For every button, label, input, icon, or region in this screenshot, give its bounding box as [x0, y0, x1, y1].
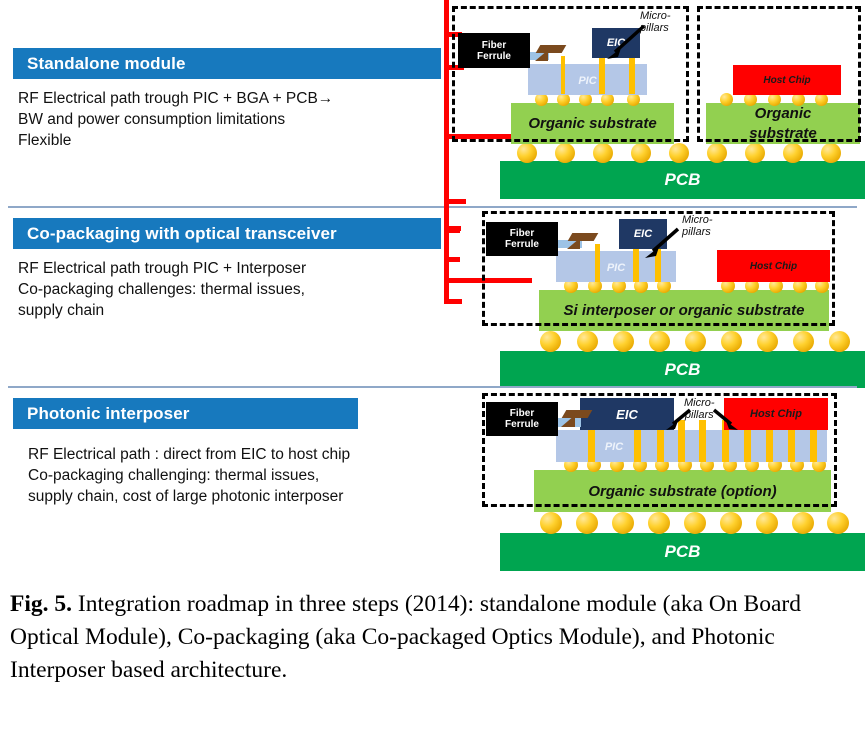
figure-caption-label: Fig. 5. — [10, 591, 72, 617]
module-boundary-right — [697, 6, 861, 142]
rf-path-segment — [444, 262, 449, 278]
section-title-photonic-interposer: Photonic interposer — [27, 404, 189, 424]
solder-ball — [745, 143, 765, 163]
solder-ball — [555, 143, 575, 163]
pcb-label: PCB — [500, 533, 865, 571]
section-header-photonic-interposer: Photonic interposer — [13, 398, 358, 429]
rf-path-segment — [444, 283, 449, 299]
diagram-standalone: PCB Organic substrate Organic substrate — [444, 0, 865, 200]
solder-ball — [540, 331, 561, 352]
solder-ball — [631, 143, 651, 163]
rf-path-segment — [444, 139, 449, 199]
solder-ball — [613, 331, 634, 352]
solder-ball — [793, 331, 814, 352]
solder-ball — [517, 143, 537, 163]
solder-ball — [649, 331, 670, 352]
solder-ball — [684, 512, 706, 534]
solder-ball — [827, 512, 849, 534]
rf-path-segment — [444, 70, 449, 134]
section-description-copackaging: RF Electrical path trough PIC + Interpos… — [18, 258, 438, 321]
solder-ball — [756, 512, 778, 534]
rf-path-segment — [444, 299, 462, 304]
section-title-standalone: Standalone module — [27, 54, 186, 74]
solder-ball — [577, 331, 598, 352]
diagram-photonic-interposer: PCB Organic substrate (option) PIC — [444, 388, 865, 573]
pcb-label: PCB — [500, 161, 865, 199]
solder-ball — [783, 143, 803, 163]
solder-ball — [648, 512, 670, 534]
figure-container: Standalone module RF Electrical path tro… — [0, 0, 865, 740]
solder-ball — [720, 512, 742, 534]
module-boundary — [482, 393, 837, 507]
pcb-label: PCB — [500, 351, 865, 388]
solder-ball — [593, 143, 613, 163]
section-description-photonic-interposer: RF Electrical path : direct from EIC to … — [28, 444, 448, 507]
micropillars-arrow — [602, 20, 648, 64]
solder-ball — [612, 512, 634, 534]
solder-ball — [669, 143, 689, 163]
rf-path-segment — [444, 37, 449, 65]
solder-ball — [685, 331, 706, 352]
micropillars-arrow — [640, 223, 682, 261]
figure-caption-text: Integration roadmap in three steps (2014… — [10, 591, 801, 683]
solder-ball — [757, 331, 778, 352]
solder-ball — [576, 512, 598, 534]
solder-ball — [721, 331, 742, 352]
solder-ball — [792, 512, 814, 534]
diagram-copackaging: PCB Si interposer or organic substrate P… — [444, 206, 865, 388]
figure-caption: Fig. 5. Integration roadmap in three ste… — [10, 588, 856, 687]
rf-path-segment — [444, 206, 449, 228]
solder-ball — [829, 331, 850, 352]
solder-ball — [707, 143, 727, 163]
rf-path-segment — [444, 233, 449, 257]
micropillars-arrow-right — [710, 404, 742, 432]
micropillars-arrow-left — [662, 404, 694, 432]
rf-path-segment — [444, 0, 449, 32]
section-title-copackaging: Co-packaging with optical transceiver — [27, 224, 337, 244]
solder-ball — [540, 512, 562, 534]
section-header-standalone: Standalone module — [13, 48, 441, 79]
section-description-standalone: RF Electrical path trough PIC + BGA + PC… — [18, 88, 438, 151]
micropillars-label: Micro- pillars — [682, 214, 713, 238]
section-header-copackaging: Co-packaging with optical transceiver — [13, 218, 441, 249]
solder-ball — [821, 143, 841, 163]
